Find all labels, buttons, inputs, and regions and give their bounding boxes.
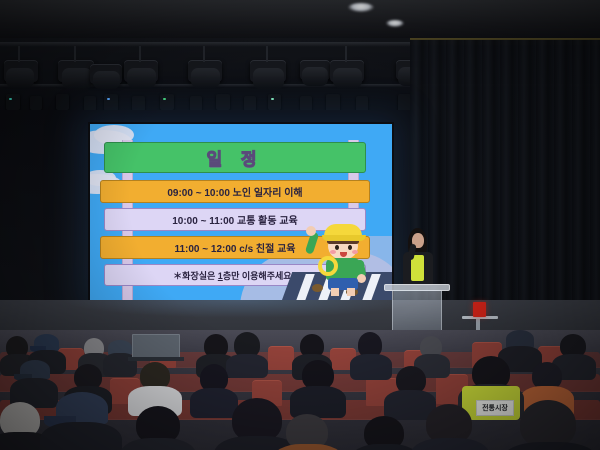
schedule-row-2-text: 10:00 ~ 11:00 교통 활동 교육 <box>172 212 298 227</box>
stage-fixture <box>268 94 281 110</box>
fixture-led-indicator <box>163 98 166 100</box>
stage-lamp-barrel <box>62 68 92 89</box>
mascot-eye <box>348 245 352 250</box>
stage-lamp-barrel <box>253 68 284 89</box>
mascot-leg <box>331 288 339 296</box>
audience-head <box>520 400 576 448</box>
laptop-hinge <box>128 357 184 361</box>
mascot-hand-left <box>306 226 316 236</box>
mascot-cheek <box>352 250 358 254</box>
slide-title: 일 정 <box>206 145 263 170</box>
audience-shoulders <box>350 354 392 380</box>
vest-label-text: 전통시장 <box>482 403 508 413</box>
audience-area: 전통시장 <box>0 330 600 450</box>
stage-fixture <box>190 96 202 111</box>
slide-title-bar: 일 정 <box>104 142 366 173</box>
stage-fixture <box>160 94 174 110</box>
mascot-cheek <box>330 250 336 254</box>
mascot-hand-right <box>357 274 366 283</box>
schedule-row-3-text: 11:00 ~ 12:00 c/s 친절 교육 <box>174 240 295 255</box>
stage-lamp-barrel <box>191 68 220 88</box>
notice-prefix: ＊화장실은 <box>173 271 218 281</box>
audience-shoulders <box>190 388 238 418</box>
slide-canvas: 일 정 09:00 ~ 10:00 노인 일자리 이해 10:00 ~ 11:0… <box>90 124 392 302</box>
audience-shoulders <box>502 442 598 450</box>
ceiling-light-icon <box>386 20 404 27</box>
stage-lamp-barrel <box>93 71 120 89</box>
stage-fixture <box>84 96 96 111</box>
schedule-row-1: 09:00 ~ 10:00 노인 일자리 이해 <box>100 180 370 203</box>
auditorium-scene: 일 정 09:00 ~ 10:00 노인 일자리 이해 10:00 ~ 11:0… <box>0 0 600 450</box>
audience-shoulders <box>290 386 346 418</box>
stage-fixture <box>6 94 20 110</box>
stage-lamp-barrel <box>6 68 34 88</box>
ceiling <box>0 0 600 40</box>
audience-shoulders <box>40 422 122 450</box>
mascot-baton-ring <box>318 256 338 276</box>
stage-lamp-barrel <box>127 68 156 88</box>
stage-fixture <box>300 96 312 111</box>
stage-lamp-barrel <box>333 68 362 88</box>
stage-fixture <box>244 96 256 111</box>
mascot-eye <box>335 245 339 250</box>
audience-shoulders <box>350 444 420 450</box>
ceiling-light-icon <box>348 3 374 12</box>
mascot-leg <box>347 288 355 296</box>
audience-shoulders <box>226 354 268 378</box>
stage-floor-glow <box>60 300 420 318</box>
stage-lamp-barrel <box>302 67 328 86</box>
stage-fixture <box>56 94 69 110</box>
audience-shoulders <box>410 438 490 450</box>
audience-shoulders <box>120 438 196 450</box>
vest-label: 전통시장 <box>476 400 514 416</box>
red-box-prop[interactable] <box>473 302 486 317</box>
seat[interactable] <box>268 346 294 370</box>
notice-suffix: 층만 이용해주세요~ <box>223 271 297 281</box>
stage-fixture <box>132 96 145 111</box>
stage-fixture <box>104 94 118 111</box>
fixture-led-indicator <box>271 98 274 100</box>
operator-laptop[interactable] <box>132 334 180 358</box>
mascot-crossing-guard-child <box>306 224 376 294</box>
restroom-notice-text: ＊화장실은 1층만 이용해주세요~ <box>173 269 297 282</box>
stage-fixture <box>30 96 42 110</box>
fixture-led-indicator <box>9 98 12 100</box>
mascot-hat-brim <box>322 235 366 241</box>
projection-screen: 일 정 09:00 ~ 10:00 노인 일자리 이해 10:00 ~ 11:0… <box>88 122 394 304</box>
schedule-row-1-text: 09:00 ~ 10:00 노인 일자리 이해 <box>167 184 302 199</box>
fixture-led-indicator <box>107 98 110 100</box>
stage-fixture <box>216 94 230 110</box>
